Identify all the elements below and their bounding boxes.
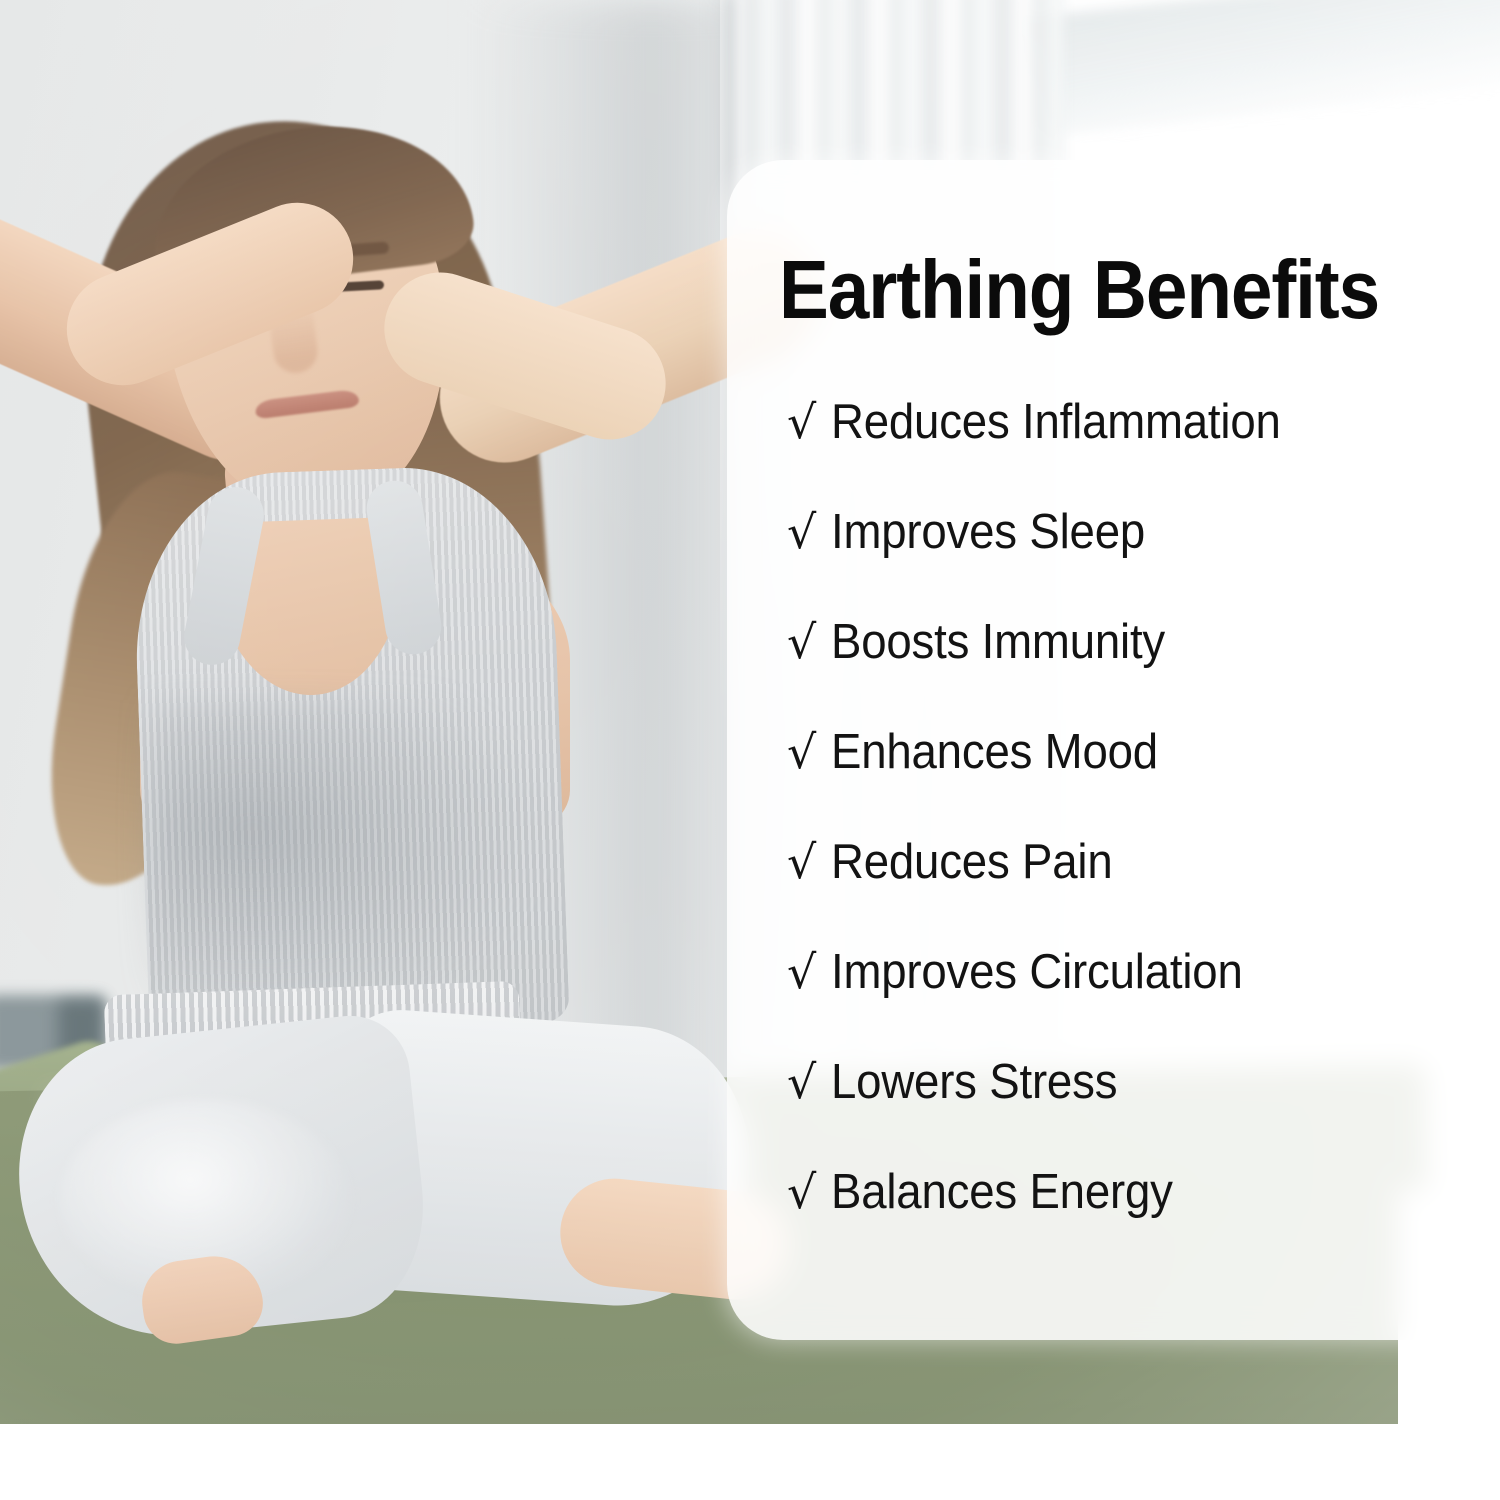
- benefit-label: Enhances Mood: [831, 728, 1158, 777]
- list-item: √ Boosts Immunity: [787, 618, 1480, 728]
- radical-check-icon: √: [787, 1059, 831, 1105]
- benefit-label: Lowers Stress: [831, 1058, 1117, 1107]
- marketing-graphic: Earthing Benefits √ Reduces Inflammation…: [0, 0, 1500, 1500]
- radical-check-icon: √: [787, 399, 831, 445]
- list-item: √ Reduces Pain: [787, 838, 1480, 948]
- woman-figure: [0, 0, 760, 1430]
- floor-strip: [0, 1424, 1500, 1500]
- benefits-panel: Earthing Benefits √ Reduces Inflammation…: [727, 160, 1500, 1340]
- page-title: Earthing Benefits: [779, 248, 1379, 331]
- radical-check-icon: √: [787, 729, 831, 775]
- list-item: √ Balances Energy: [787, 1168, 1480, 1278]
- benefits-panel-inner: Earthing Benefits √ Reduces Inflammation…: [727, 160, 1500, 1340]
- benefits-list: √ Reduces Inflammation √ Improves Sleep …: [787, 398, 1480, 1278]
- list-item: √ Enhances Mood: [787, 728, 1480, 838]
- benefit-label: Improves Circulation: [831, 948, 1243, 997]
- radical-check-icon: √: [787, 949, 831, 995]
- benefit-label: Reduces Inflammation: [831, 398, 1281, 447]
- benefit-label: Reduces Pain: [831, 838, 1112, 887]
- list-item: √ Lowers Stress: [787, 1058, 1480, 1168]
- benefit-label: Improves Sleep: [831, 508, 1145, 557]
- benefit-label: Balances Energy: [831, 1168, 1173, 1217]
- radical-check-icon: √: [787, 1169, 831, 1215]
- list-item: √ Reduces Inflammation: [787, 398, 1480, 508]
- benefit-label: Boosts Immunity: [831, 618, 1165, 667]
- radical-check-icon: √: [787, 509, 831, 555]
- list-item: √ Improves Sleep: [787, 508, 1480, 618]
- radical-check-icon: √: [787, 839, 831, 885]
- list-item: √ Improves Circulation: [787, 948, 1480, 1058]
- radical-check-icon: √: [787, 619, 831, 665]
